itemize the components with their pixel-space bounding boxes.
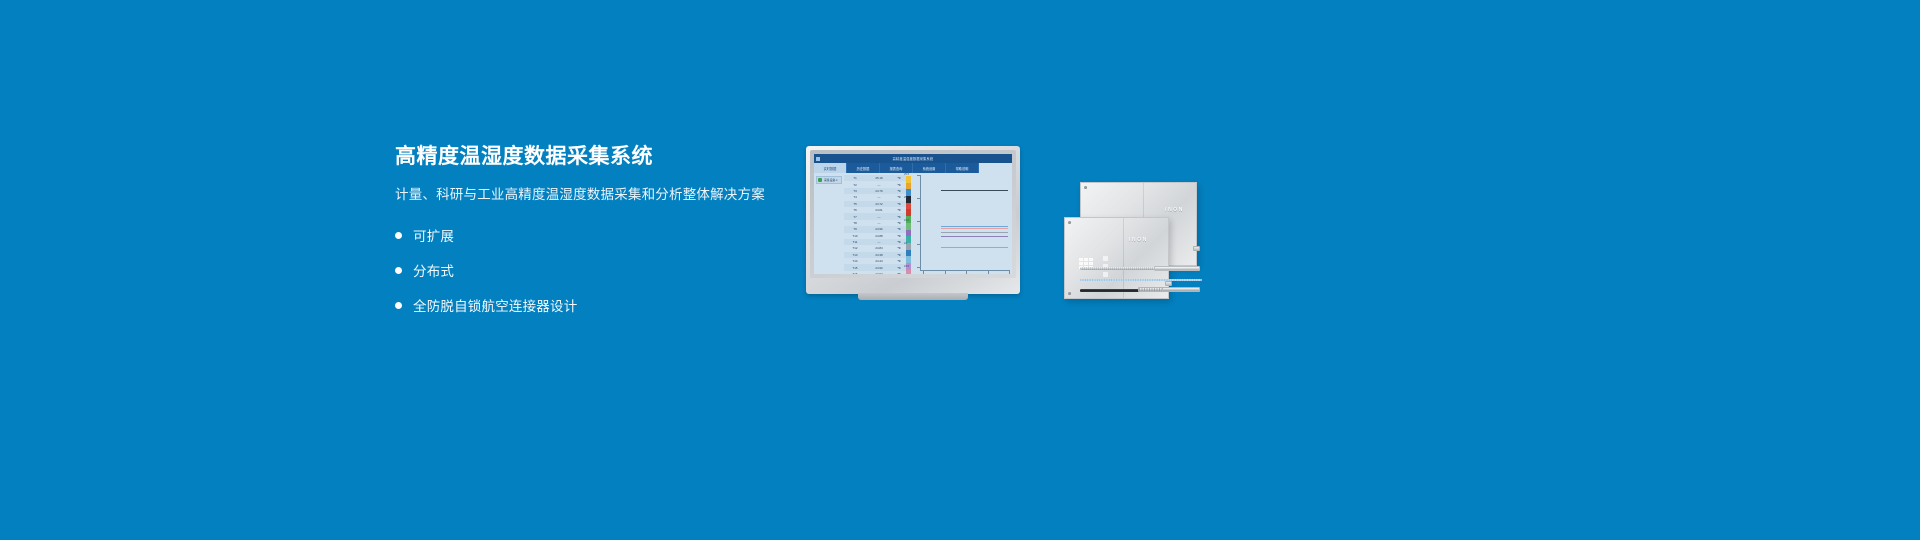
tabstrip-filler <box>979 163 1012 173</box>
channel-table: T1 25.18 ℃ T2 --- ℃ T3 24.79 ℃ <box>844 173 906 274</box>
channel-unit: ℃ <box>892 246 906 250</box>
bullet-dot-icon <box>395 267 402 274</box>
app-titlebar: 高精度温湿度数据采集系统 <box>814 154 1012 163</box>
channel-value: --- <box>866 183 892 187</box>
channel-name: T15 <box>844 266 866 270</box>
device-tree-node[interactable]: 采集设备-1 <box>816 176 842 184</box>
screw-icon <box>1084 186 1087 189</box>
chart-y-tick-label: 25.5 <box>904 173 909 176</box>
table-row: T16 24.94 ℃ <box>844 271 906 274</box>
device-tree-label: 采集设备-1 <box>824 178 838 182</box>
chart-series-line <box>941 247 1008 248</box>
chart-x-tick <box>966 271 967 274</box>
channel-value: 24.96 <box>866 227 892 231</box>
hero-banner: 高精度温湿度数据采集系统 计量、科研与工业高精度温湿度数据采集和分析整体解决方案… <box>0 0 1920 540</box>
chart-y-tick-label: 24 <box>904 242 907 245</box>
channel-unit: ℃ <box>892 234 906 238</box>
chart-y-tick <box>917 267 920 268</box>
channel-name: T14 <box>844 259 866 263</box>
chart-y-tick <box>917 198 920 199</box>
bullet-dot-icon <box>395 302 402 309</box>
channel-value: 24.84 <box>866 246 892 250</box>
channel-value: --- <box>866 195 892 199</box>
app-body: 采集设备-1 T1 25.18 ℃ T2 --- ℃ T3 <box>814 173 1012 274</box>
list-item: 全防脱自锁航空连接器设计 <box>395 292 795 318</box>
channel-value: 24.88 <box>866 234 892 238</box>
app-window-title: 高精度温湿度数据采集系统 <box>814 156 1012 161</box>
device-status-icon <box>818 178 822 182</box>
list-item: 可扩展 <box>395 222 795 248</box>
chart-y-tick-label: 24.5 <box>904 219 909 222</box>
chart-series-line <box>941 228 1008 229</box>
sensor-probes <box>1062 258 1202 300</box>
probe-tip <box>1154 266 1200 271</box>
chart-series-line <box>941 236 1008 237</box>
chart-series-line <box>941 232 1008 233</box>
channel-unit: ℃ <box>892 189 906 193</box>
chart-x-axis <box>920 270 1010 271</box>
channel-name: T9 <box>844 227 866 231</box>
chart-y-tick-label: 25 <box>904 196 907 199</box>
chart-y-tick <box>917 175 920 176</box>
page-subtitle: 计量、科研与工业高精度温湿度数据采集和分析整体解决方案 <box>395 185 795 205</box>
app-tabstrip: 实时数据 历史数据 报表查询 系统设置 帮助说明 <box>814 163 1012 173</box>
channel-name: T2 <box>844 183 866 187</box>
connector-sleeve <box>1162 287 1200 292</box>
cable-body <box>1080 289 1146 292</box>
channel-value: --- <box>866 240 892 244</box>
channel-value: 24.79 <box>866 189 892 193</box>
channel-value: 24.38 <box>866 253 892 257</box>
chart-x-tick <box>945 271 946 274</box>
channel-value: 24.61 <box>866 208 892 212</box>
channel-name: T5 <box>844 202 866 206</box>
chart-y-tick <box>917 244 920 245</box>
channel-name: T8 <box>844 221 866 225</box>
brand-label: INON <box>1129 237 1148 243</box>
channel-name: T1 <box>844 176 866 180</box>
channel-value: 24.94 <box>866 272 892 274</box>
channel-name: T7 <box>844 215 866 219</box>
chart-x-tick <box>988 271 989 274</box>
channel-unit: ℃ <box>892 215 906 219</box>
channel-value: 24.72 <box>866 202 892 206</box>
channel-value: --- <box>866 221 892 225</box>
channel-unit: ℃ <box>892 208 906 212</box>
hero-copy: 高精度温湿度数据采集系统 计量、科研与工业高精度温湿度数据采集和分析整体解决方案… <box>395 143 795 327</box>
channel-name: T4 <box>844 195 866 199</box>
aviation-connector <box>1138 287 1164 292</box>
screw-icon <box>1068 221 1071 224</box>
probe-shaft <box>1080 267 1162 270</box>
channel-unit: ℃ <box>892 227 906 231</box>
chart-series-line <box>941 190 1008 191</box>
channel-name: T11 <box>844 240 866 244</box>
chart-y-axis <box>920 175 921 271</box>
sensor-cable-blue <box>1080 279 1202 281</box>
channel-unit: ℃ <box>892 183 906 187</box>
aviation-connector-cable <box>1080 288 1204 292</box>
tab-history-data[interactable]: 历史数据 <box>847 163 880 173</box>
feature-label: 全防脱自锁航空连接器设计 <box>413 295 577 315</box>
channel-value: 24.44 <box>866 259 892 263</box>
channel-unit: ℃ <box>892 259 906 263</box>
list-item: 分布式 <box>395 257 795 283</box>
channel-value: 24.90 <box>866 266 892 270</box>
connector-port <box>1193 246 1200 251</box>
channel-name: T12 <box>844 246 866 250</box>
bullet-dot-icon <box>395 232 402 239</box>
channel-name: T13 <box>844 253 866 257</box>
device-tree: 采集设备-1 <box>814 173 844 274</box>
brand-label: INON <box>1165 207 1184 213</box>
channel-unit: ℃ <box>892 176 906 180</box>
industrial-panel-pc: 高精度温湿度数据采集系统 实时数据 历史数据 报表查询 系统设置 帮助说明 采集… <box>806 146 1020 294</box>
tab-report-query[interactable]: 报表查询 <box>880 163 913 173</box>
temperature-probe-stainless <box>1080 266 1198 270</box>
tab-system-settings[interactable]: 系统设置 <box>913 163 946 173</box>
channel-value: --- <box>866 215 892 219</box>
channel-name: T6 <box>844 208 866 212</box>
channel-value: 25.18 <box>866 176 892 180</box>
chart-y-tick-label: 23.5 <box>904 265 909 268</box>
page-title: 高精度温湿度数据采集系统 <box>395 143 795 171</box>
channel-name: T3 <box>844 189 866 193</box>
feature-label: 分布式 <box>413 260 454 280</box>
feature-label: 可扩展 <box>413 225 454 245</box>
chart-y-tick <box>917 221 920 222</box>
channel-name: T16 <box>844 272 866 274</box>
feature-list: 可扩展 分布式 全防脱自锁航空连接器设计 <box>395 222 795 318</box>
channel-name: T10 <box>844 234 866 238</box>
channel-unit: ℃ <box>892 272 906 274</box>
trend-chart: 25.52524.52423.510:12:3010:13:0010:13:30… <box>911 173 1012 274</box>
monitor-screen: 高精度温湿度数据采集系统 实时数据 历史数据 报表查询 系统设置 帮助说明 采集… <box>814 154 1012 274</box>
tab-help[interactable]: 帮助说明 <box>946 163 979 173</box>
monitor-stand <box>858 293 968 300</box>
channel-unit: ℃ <box>892 253 906 257</box>
cable-body <box>1080 279 1202 281</box>
chart-x-tick <box>1009 271 1010 274</box>
chart-x-tick <box>923 271 924 274</box>
chart-series-line <box>941 226 1008 227</box>
channel-unit: ℃ <box>892 202 906 206</box>
tab-realtime-data[interactable]: 实时数据 <box>814 163 847 173</box>
